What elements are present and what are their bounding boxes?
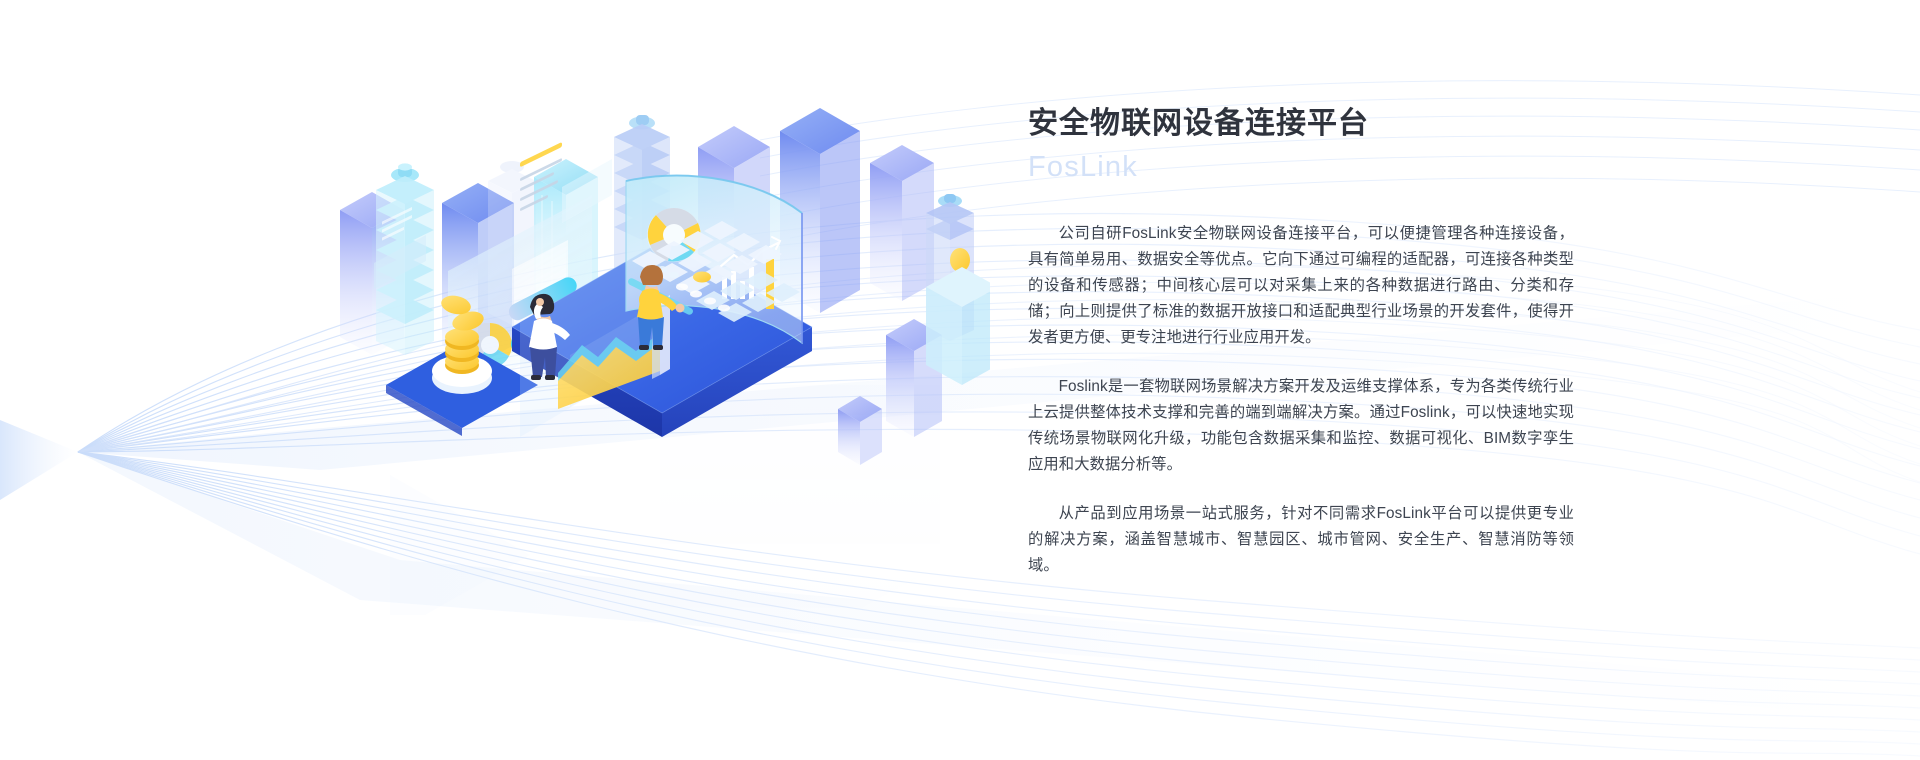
description-paragraph-1: 公司自研FosLink安全物联网设备连接平台，可以便捷管理各种连接设备，具有简单…	[1028, 221, 1574, 351]
hero-banner: 安全物联网设备连接平台 FosLink 公司自研FosLink安全物联网设备连接…	[0, 0, 1920, 760]
isometric-platform-illustration	[330, 55, 990, 615]
description-paragraph-2: Foslink是一套物联网场景解决方案开发及运维支撑体系，专为各类传统行业上云提…	[1028, 374, 1574, 478]
hero-text-column: 安全物联网设备连接平台 FosLink 公司自研FosLink安全物联网设备连接…	[1028, 104, 1578, 579]
building-right-3	[870, 145, 934, 301]
description-paragraph-3: 从产品到应用场景一站式服务，针对不同需求FosLink平台可以提供更专业的解决方…	[1028, 501, 1574, 579]
description-paragraphs: 公司自研FosLink安全物联网设备连接平台，可以便捷管理各种连接设备，具有简单…	[1028, 221, 1574, 579]
page-title: 安全物联网设备连接平台	[1028, 104, 1578, 145]
product-name-subtitle: FosLink	[1028, 147, 1578, 188]
